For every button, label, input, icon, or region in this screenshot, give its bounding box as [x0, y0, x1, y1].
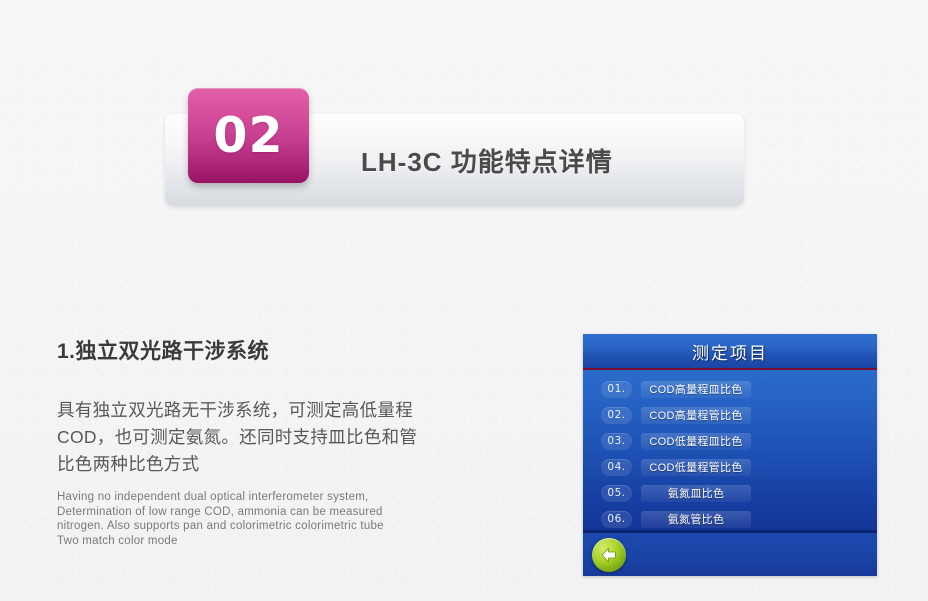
- device-screen-panel: 测定项目 01. COD高量程皿比色 02. COD高量程管比色 03. COD…: [583, 334, 877, 576]
- feature-block: 1.独立双光路干涉系统 具有独立双光路无干涉系统，可测定高低量程COD，也可测定…: [57, 340, 427, 548]
- list-item-number: 01.: [601, 381, 632, 398]
- panel-footer: [583, 533, 877, 576]
- list-item-number: 03.: [601, 433, 632, 450]
- feature-en-line: Having no independent dual optical inter…: [57, 490, 419, 505]
- list-item[interactable]: 03. COD低量程皿比色: [583, 428, 877, 454]
- feature-heading: 1.独立双光路干涉系统: [57, 340, 427, 363]
- list-item-label: COD高量程管比色: [641, 407, 751, 424]
- list-item[interactable]: 01. COD高量程皿比色: [583, 376, 877, 402]
- list-item-label: 氨氮管比色: [641, 511, 751, 528]
- list-item-label: 氨氮皿比色: [641, 485, 751, 502]
- list-item-number: 05.: [601, 485, 632, 502]
- section-number-label: 02: [213, 111, 283, 160]
- list-item-number: 06.: [601, 511, 632, 528]
- section-banner: LH-3C 功能特点详情 02: [165, 114, 744, 206]
- panel-header: 测定项目: [583, 334, 877, 368]
- back-button[interactable]: [592, 538, 626, 572]
- list-item[interactable]: 06. 氨氮管比色: [583, 506, 877, 532]
- panel-header-title: 测定项目: [692, 339, 768, 364]
- feature-description-en: Having no independent dual optical inter…: [57, 490, 419, 548]
- feature-en-line: Determination of low range COD, ammonia …: [57, 505, 419, 520]
- section-number-badge: 02: [188, 88, 309, 183]
- measurement-item-list: 01. COD高量程皿比色 02. COD高量程管比色 03. COD低量程皿比…: [583, 370, 877, 530]
- list-item[interactable]: 05. 氨氮皿比色: [583, 480, 877, 506]
- feature-en-line: Two match color mode: [57, 534, 419, 549]
- feature-description-cn: 具有独立双光路无干涉系统，可测定高低量程COD，也可测定氨氮。还同时支持皿比色和…: [57, 397, 419, 478]
- list-item-label: COD低量程皿比色: [641, 433, 751, 450]
- feature-en-line: nitrogen. Also supports pan and colorime…: [57, 519, 419, 534]
- list-item-label: COD高量程皿比色: [641, 381, 751, 398]
- list-item[interactable]: 04. COD低量程管比色: [583, 454, 877, 480]
- list-item-label: COD低量程管比色: [641, 459, 751, 476]
- page-background: LH-3C 功能特点详情 02 1.独立双光路干涉系统 具有独立双光路无干涉系统…: [0, 0, 928, 601]
- banner-title: LH-3C 功能特点详情: [361, 114, 613, 206]
- list-item-number: 04.: [601, 459, 632, 476]
- list-item[interactable]: 02. COD高量程管比色: [583, 402, 877, 428]
- list-item-number: 02.: [601, 407, 632, 424]
- arrow-left-icon: [598, 544, 620, 566]
